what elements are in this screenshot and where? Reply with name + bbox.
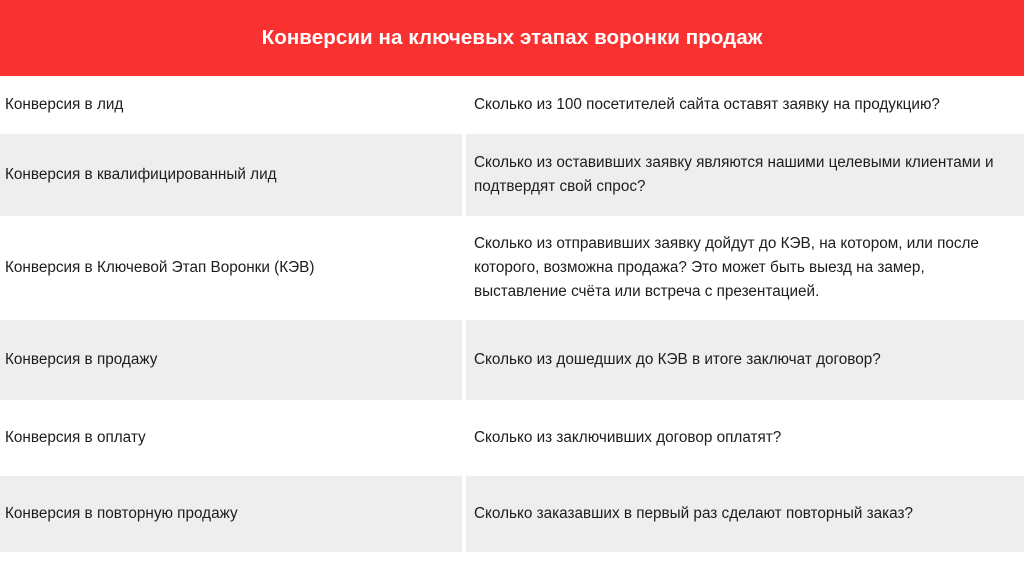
- slide-page: Конверсии на ключевых этапах воронки про…: [0, 0, 1024, 576]
- table-row: Конверсия в квалифицированный лид Скольк…: [0, 134, 1024, 216]
- stage-label: Конверсия в оплату: [5, 426, 146, 450]
- description-text: Сколько из заключивших договор оплатят?: [474, 426, 781, 450]
- table-cell-description: Сколько заказавших в первый раз сделают …: [466, 476, 1024, 552]
- table-row: Конверсия в лид Сколько из 100 посетител…: [0, 76, 1024, 134]
- table-cell-stage: Конверсия в Ключевой Этап Воронки (КЭВ): [0, 216, 462, 320]
- table-cell-stage: Конверсия в лид: [0, 76, 462, 134]
- table-row: Конверсия в оплату Сколько из заключивши…: [0, 400, 1024, 476]
- table-cell-description: Сколько из оставивших заявку являются на…: [466, 134, 1024, 216]
- table-cell-description: Сколько из 100 посетителей сайта оставят…: [466, 76, 1024, 134]
- header-banner: Конверсии на ключевых этапах воронки про…: [0, 0, 1024, 76]
- table-row: Конверсия в продажу Сколько из дошедших …: [0, 320, 1024, 400]
- table-row: Конверсия в повторную продажу Сколько за…: [0, 476, 1024, 552]
- page-title: Конверсии на ключевых этапах воронки про…: [262, 26, 763, 51]
- table-cell-stage: Конверсия в продажу: [0, 320, 462, 400]
- description-text: Сколько из оставивших заявку являются на…: [474, 151, 1008, 198]
- description-text: Сколько из дошедших до КЭВ в итоге заклю…: [474, 348, 881, 372]
- table-cell-description: Сколько из дошедших до КЭВ в итоге заклю…: [466, 320, 1024, 400]
- table-row: Конверсия в Ключевой Этап Воронки (КЭВ) …: [0, 216, 1024, 320]
- stage-label: Конверсия в продажу: [5, 348, 157, 372]
- table-cell-stage: Конверсия в квалифицированный лид: [0, 134, 462, 216]
- table-cell-description: Сколько из заключивших договор оплатят?: [466, 400, 1024, 476]
- table-cell-stage: Конверсия в повторную продажу: [0, 476, 462, 552]
- stage-label: Конверсия в Ключевой Этап Воронки (КЭВ): [5, 256, 314, 280]
- description-text: Сколько заказавших в первый раз сделают …: [474, 502, 913, 526]
- stage-label: Конверсия в квалифицированный лид: [5, 163, 277, 187]
- table-cell-stage: Конверсия в оплату: [0, 400, 462, 476]
- stage-label: Конверсия в повторную продажу: [5, 502, 238, 526]
- conversion-stages-table: Конверсия в лид Сколько из 100 посетител…: [0, 76, 1024, 552]
- stage-label: Конверсия в лид: [5, 93, 123, 117]
- description-text: Сколько из отправивших заявку дойдут до …: [474, 232, 1008, 303]
- description-text: Сколько из 100 посетителей сайта оставят…: [474, 93, 940, 117]
- table-cell-description: Сколько из отправивших заявку дойдут до …: [466, 216, 1024, 320]
